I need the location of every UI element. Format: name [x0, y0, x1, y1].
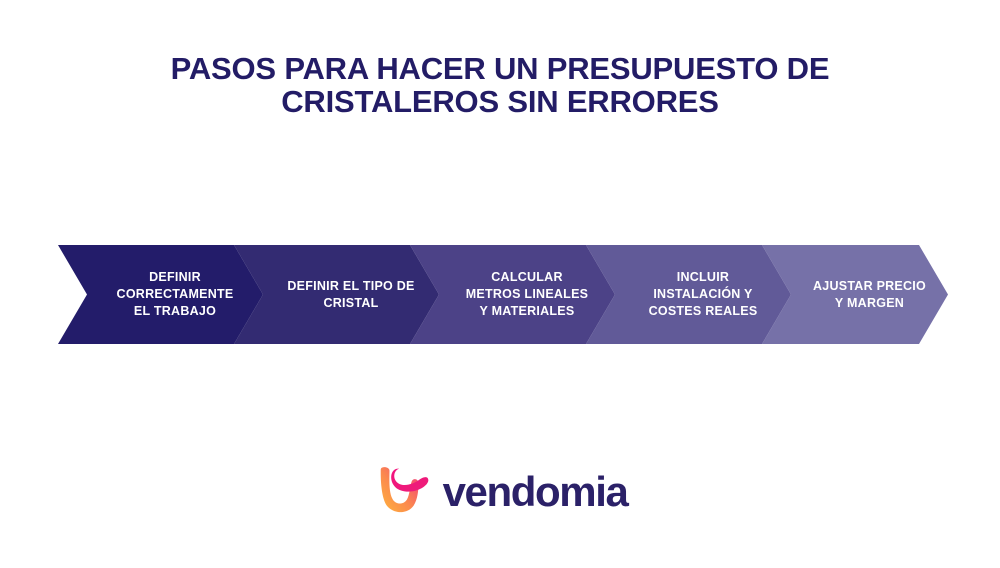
page-title-line-2: CRISTALEROS SIN ERRORES	[0, 85, 1000, 118]
vendomia-v-icon	[373, 458, 435, 520]
page-title-line-1: PASOS PARA HACER UN PRESUPUESTO DE	[0, 52, 1000, 85]
brand-wordmark: vendomia	[443, 471, 628, 513]
chevron-shape-1	[58, 245, 263, 344]
process-flow-shapes	[58, 245, 948, 344]
chevron-shape-4	[586, 245, 791, 344]
chevron-shape-2	[234, 245, 439, 344]
infographic-canvas: PASOS PARA HACER UN PRESUPUESTO DE CRIST…	[0, 0, 1000, 568]
brand-logo[interactable]: vendomia	[0, 456, 1000, 522]
chevron-shape-3	[410, 245, 615, 344]
page-title: PASOS PARA HACER UN PRESUPUESTO DE CRIST…	[0, 52, 1000, 118]
process-flow: DEFINIR CORRECTAMENTE EL TRABAJO DEFINIR…	[58, 245, 948, 344]
